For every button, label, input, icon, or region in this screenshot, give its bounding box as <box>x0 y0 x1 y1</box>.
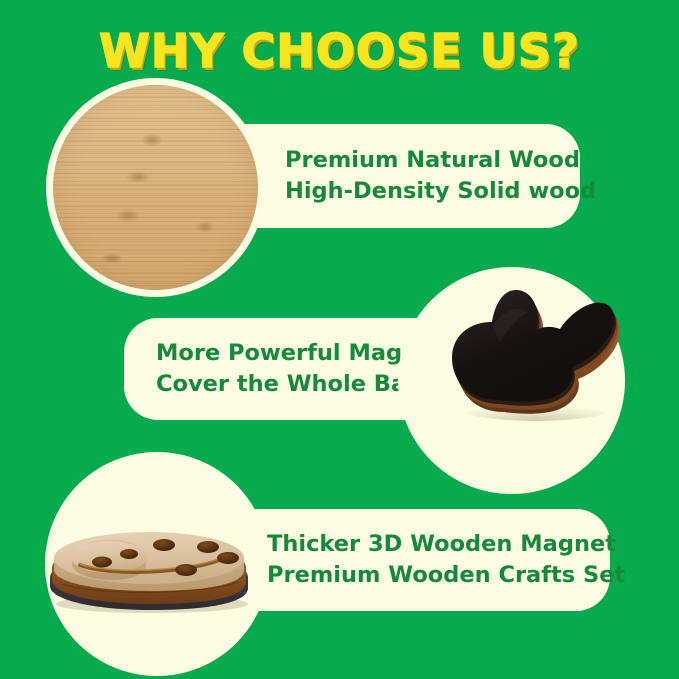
page-title: WHY CHOOSE US? <box>0 24 679 78</box>
wood-knot <box>101 253 123 264</box>
why-choose-us-poster: WHY CHOOSE US? Round bamboo wood disc wi… <box>0 0 679 679</box>
black-bunny-magnet-icon: Black rabbit shaped magnet backing on wo… <box>440 282 630 422</box>
wood-knot <box>141 133 163 147</box>
wood-image-caption: Round bamboo wood disc with horizontal g… <box>53 85 54 86</box>
wood-knot <box>125 171 151 183</box>
wood-knot <box>195 221 215 233</box>
bunny-image-caption: Black rabbit shaped magnet backing on wo… <box>630 282 631 283</box>
feature-line-1: Thicker 3D Wooden Magnet <box>267 529 610 560</box>
bamboo-wood-circle-icon: Round bamboo wood disc with horizontal g… <box>53 85 258 290</box>
magnet-black-face <box>452 290 614 402</box>
feature-line-1: Premium Natural Wood <box>285 145 580 176</box>
wood-knot <box>116 209 140 222</box>
feature-line-2: Premium Wooden Crafts Set <box>267 560 610 591</box>
layered-wooden-craft-icon: Thick layered wooden ladybug craft piece… <box>36 518 260 614</box>
feature-card-thicker-3d: Thicker 3D Wooden Magnet Premium Wooden … <box>225 509 610 611</box>
feature-line-2: High-Density Solid wood <box>285 176 580 207</box>
